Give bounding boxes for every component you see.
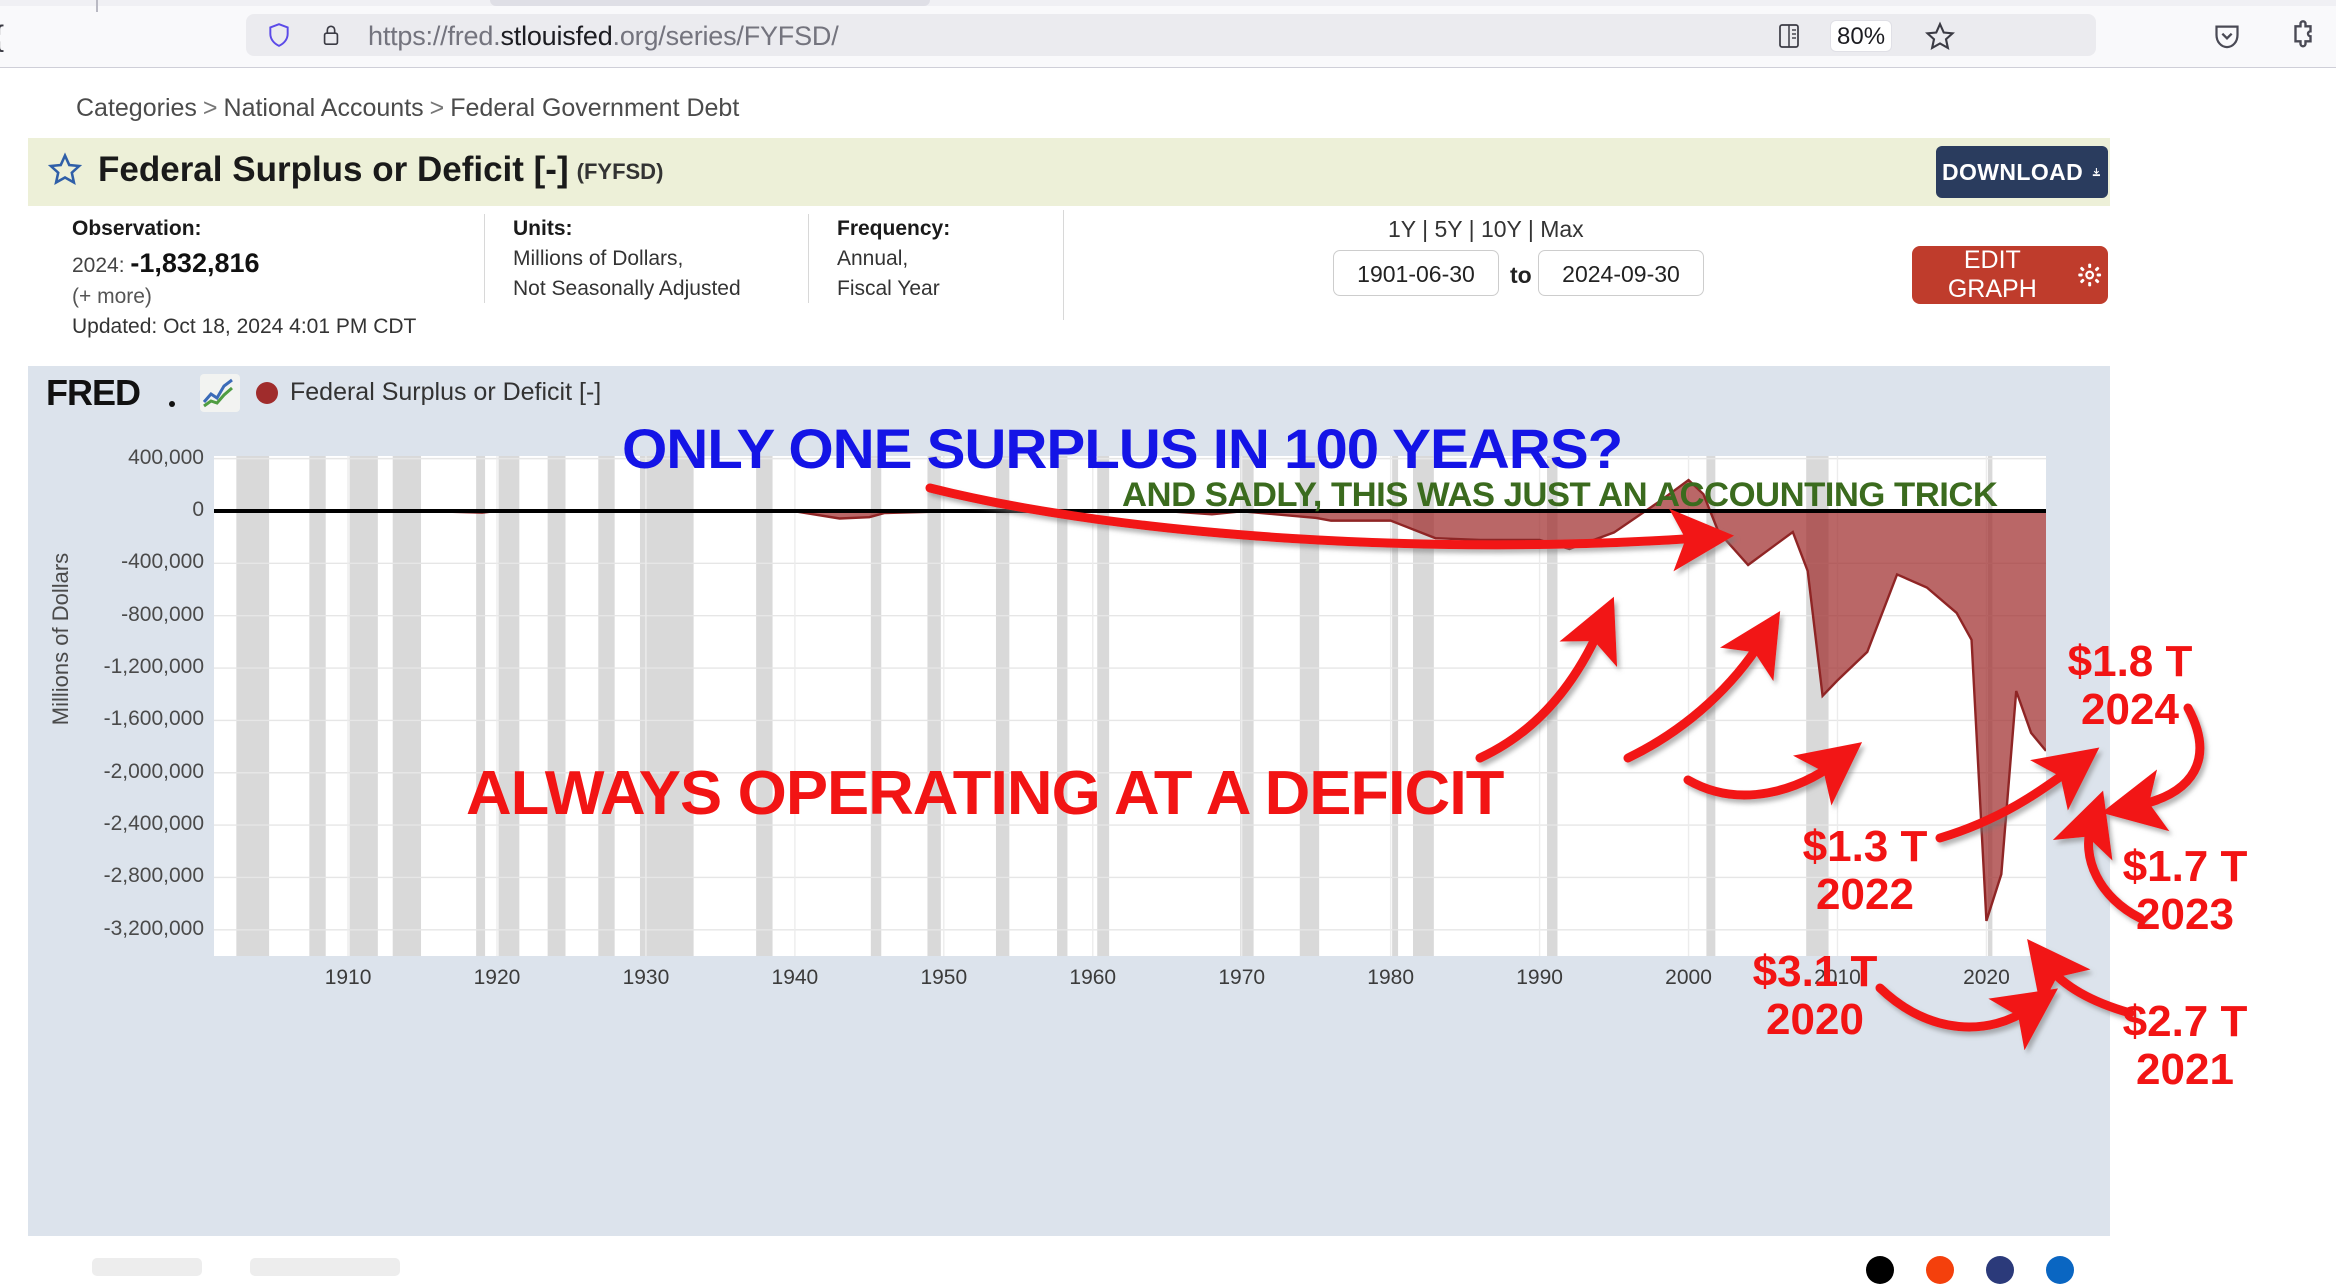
browser-chrome: { https://fred.stlouisfed.org/series/FYF… — [0, 0, 2336, 68]
units-line-1: Millions of Dollars, — [513, 247, 683, 270]
zoom-level-badge[interactable]: 80% — [1830, 20, 1892, 52]
callout-2021-amount: $2.7 T — [2123, 998, 2248, 1046]
callout-2024-amount: $1.8 T — [2068, 638, 2193, 686]
callout-2024: $1.8 T 2024 — [2068, 638, 2193, 733]
callout-2023-year: 2023 — [2123, 891, 2248, 939]
frequency-line-2: Fiscal Year — [837, 277, 940, 300]
annotation-headline-red: ALWAYS OPERATING AT A DEFICIT — [466, 758, 1503, 829]
share-facebook-icon[interactable] — [1986, 1256, 2014, 1284]
annotation-subhead-green: AND SADLY, THIS WAS JUST AN ACCOUNTING T… — [1122, 476, 1997, 515]
breadcrumb-separator: > — [424, 94, 451, 122]
x-tick-label: 1980 — [1367, 966, 1414, 990]
units-line-2: Not Seasonally Adjusted — [513, 277, 741, 300]
observation-year: 2024: — [72, 254, 125, 277]
url-domain: stlouisfed — [500, 21, 612, 51]
y-tick-label: -2,400,000 — [44, 812, 204, 836]
x-tick-label: 1940 — [772, 966, 819, 990]
range-presets[interactable]: 1Y | 5Y | 10Y | Max — [1388, 216, 1584, 243]
url-path: .org/series/FYFSD/ — [613, 21, 839, 51]
series-title-text: Federal Surplus or Deficit [-] — [98, 150, 569, 189]
sparkline-icon — [200, 374, 240, 412]
url-scheme: https://fred. — [368, 21, 500, 51]
breadcrumb-item-federal-government-debt[interactable]: Federal Government Debt — [450, 94, 739, 122]
download-button-label: DOWNLOAD — [1942, 159, 2083, 186]
callout-2021-year: 2021 — [2123, 1046, 2248, 1094]
meta-units: Units: Millions of Dollars, Not Seasonal… — [484, 214, 813, 303]
bookmark-star-icon[interactable] — [1925, 20, 1955, 52]
meta-frequency: Frequency: Annual, Fiscal Year — [808, 214, 1057, 303]
x-tick-label: 1920 — [474, 966, 521, 990]
share-x-icon[interactable] — [1866, 1256, 1894, 1284]
callout-2020-amount: $3.1 T — [1753, 948, 1878, 996]
start-date-input[interactable]: 1901-06-30 — [1333, 250, 1499, 296]
edit-graph-label: EDIT GRAPH — [1918, 246, 2067, 304]
bottom-button-b[interactable] — [250, 1258, 400, 1276]
units-header: Units: — [513, 214, 813, 244]
date-to-label: to — [1510, 262, 1532, 289]
breadcrumb-item-national-accounts[interactable]: National Accounts — [224, 94, 424, 122]
browser-tab[interactable] — [490, 0, 930, 6]
x-tick-label: 1910 — [325, 966, 372, 990]
x-tick-label: 1930 — [623, 966, 670, 990]
observation-header: Observation: — [72, 214, 462, 244]
series-meta-bar: Observation: 2024: -1,832,816 (+ more) U… — [28, 206, 2110, 326]
frequency-header: Frequency: — [837, 214, 1057, 244]
url-text[interactable]: https://fred.stlouisfed.org/series/FYFSD… — [368, 21, 839, 52]
extensions-puzzle-icon[interactable] — [2288, 20, 2318, 50]
callout-2023-amount: $1.7 T — [2123, 843, 2248, 891]
edit-graph-button[interactable]: EDIT GRAPH — [1912, 246, 2108, 304]
share-linkedin-icon[interactable] — [2046, 1256, 2074, 1284]
observation-number: -1,832,816 — [130, 248, 259, 278]
frequency-line-1: Annual, — [837, 247, 908, 270]
tab-divider — [96, 0, 98, 12]
page-content: Categories>National Accounts>Federal Gov… — [0, 68, 2336, 1204]
reader-view-icon[interactable] — [1778, 24, 1800, 48]
x-tick-label: 1960 — [1069, 966, 1116, 990]
tab-strip — [0, 0, 2336, 6]
range-presets-text: 1Y | 5Y | 10Y | Max — [1388, 216, 1584, 242]
callout-2022-year: 2022 — [1803, 871, 1928, 919]
end-date-input[interactable]: 2024-09-30 — [1538, 250, 1704, 296]
bottom-button-a[interactable] — [92, 1258, 202, 1276]
plot-area — [214, 456, 2046, 956]
callout-2021: $2.7 T 2021 — [2123, 998, 2248, 1093]
gear-icon — [2077, 262, 2102, 288]
callout-2020-year: 2020 — [1753, 996, 1878, 1044]
chart-svg — [214, 456, 2046, 956]
svg-text:FRED: FRED — [46, 374, 140, 413]
breadcrumb-separator: > — [197, 94, 224, 122]
chart-legend: Federal Surplus or Deficit [-] — [256, 378, 601, 407]
x-tick-label: 1990 — [1516, 966, 1563, 990]
annotation-headline-blue: ONLY ONE SURPLUS IN 100 YEARS? — [622, 416, 1622, 481]
legend-label: Federal Surplus or Deficit [-] — [290, 378, 601, 407]
pocket-icon[interactable] — [2213, 22, 2241, 50]
page-title: Federal Surplus or Deficit [-](FYFSD) — [98, 150, 663, 190]
y-axis-title: Millions of Dollars — [48, 514, 74, 764]
nav-back-icon[interactable]: { — [0, 20, 4, 54]
series-id: (FYFSD) — [569, 159, 664, 184]
callout-2023: $1.7 T 2023 — [2123, 843, 2248, 938]
callout-2022-amount: $1.3 T — [1803, 823, 1928, 871]
lock-icon[interactable] — [320, 22, 342, 48]
fred-logo: FRED — [46, 374, 196, 414]
page-bottom-row — [0, 1254, 2336, 1272]
y-tick-label: 400,000 — [44, 446, 204, 470]
y-tick-label: -3,200,000 — [44, 917, 204, 941]
meta-observation: Observation: 2024: -1,832,816 (+ more) U… — [72, 214, 462, 342]
series-title-band: Federal Surplus or Deficit [-](FYFSD) DO… — [28, 138, 2110, 206]
share-reddit-icon[interactable] — [1926, 1256, 1954, 1284]
favorite-star-icon[interactable] — [48, 152, 82, 186]
observation-more-link[interactable]: (+ more) — [72, 285, 152, 308]
x-tick-label: 1970 — [1218, 966, 1265, 990]
download-arrow-icon — [2091, 161, 2102, 183]
observation-value: 2024: -1,832,816 — [72, 254, 260, 277]
callout-2020: $3.1 T 2020 — [1753, 948, 1878, 1043]
y-tick-label: -2,800,000 — [44, 864, 204, 888]
callout-2022: $1.3 T 2022 — [1803, 823, 1928, 918]
x-tick-label: 2000 — [1665, 966, 1712, 990]
breadcrumb-item-categories[interactable]: Categories — [76, 94, 197, 122]
callout-2024-year: 2024 — [2068, 686, 2193, 734]
observation-updated: Updated: Oct 18, 2024 4:01 PM CDT — [72, 315, 416, 338]
legend-color-swatch — [256, 382, 278, 404]
x-tick-label: 2020 — [1963, 966, 2010, 990]
x-tick-label: 1950 — [920, 966, 967, 990]
breadcrumb: Categories>National Accounts>Federal Gov… — [76, 94, 739, 123]
download-button[interactable]: DOWNLOAD — [1936, 146, 2108, 198]
shield-icon[interactable] — [266, 22, 292, 48]
meta-divider — [1063, 210, 1064, 320]
